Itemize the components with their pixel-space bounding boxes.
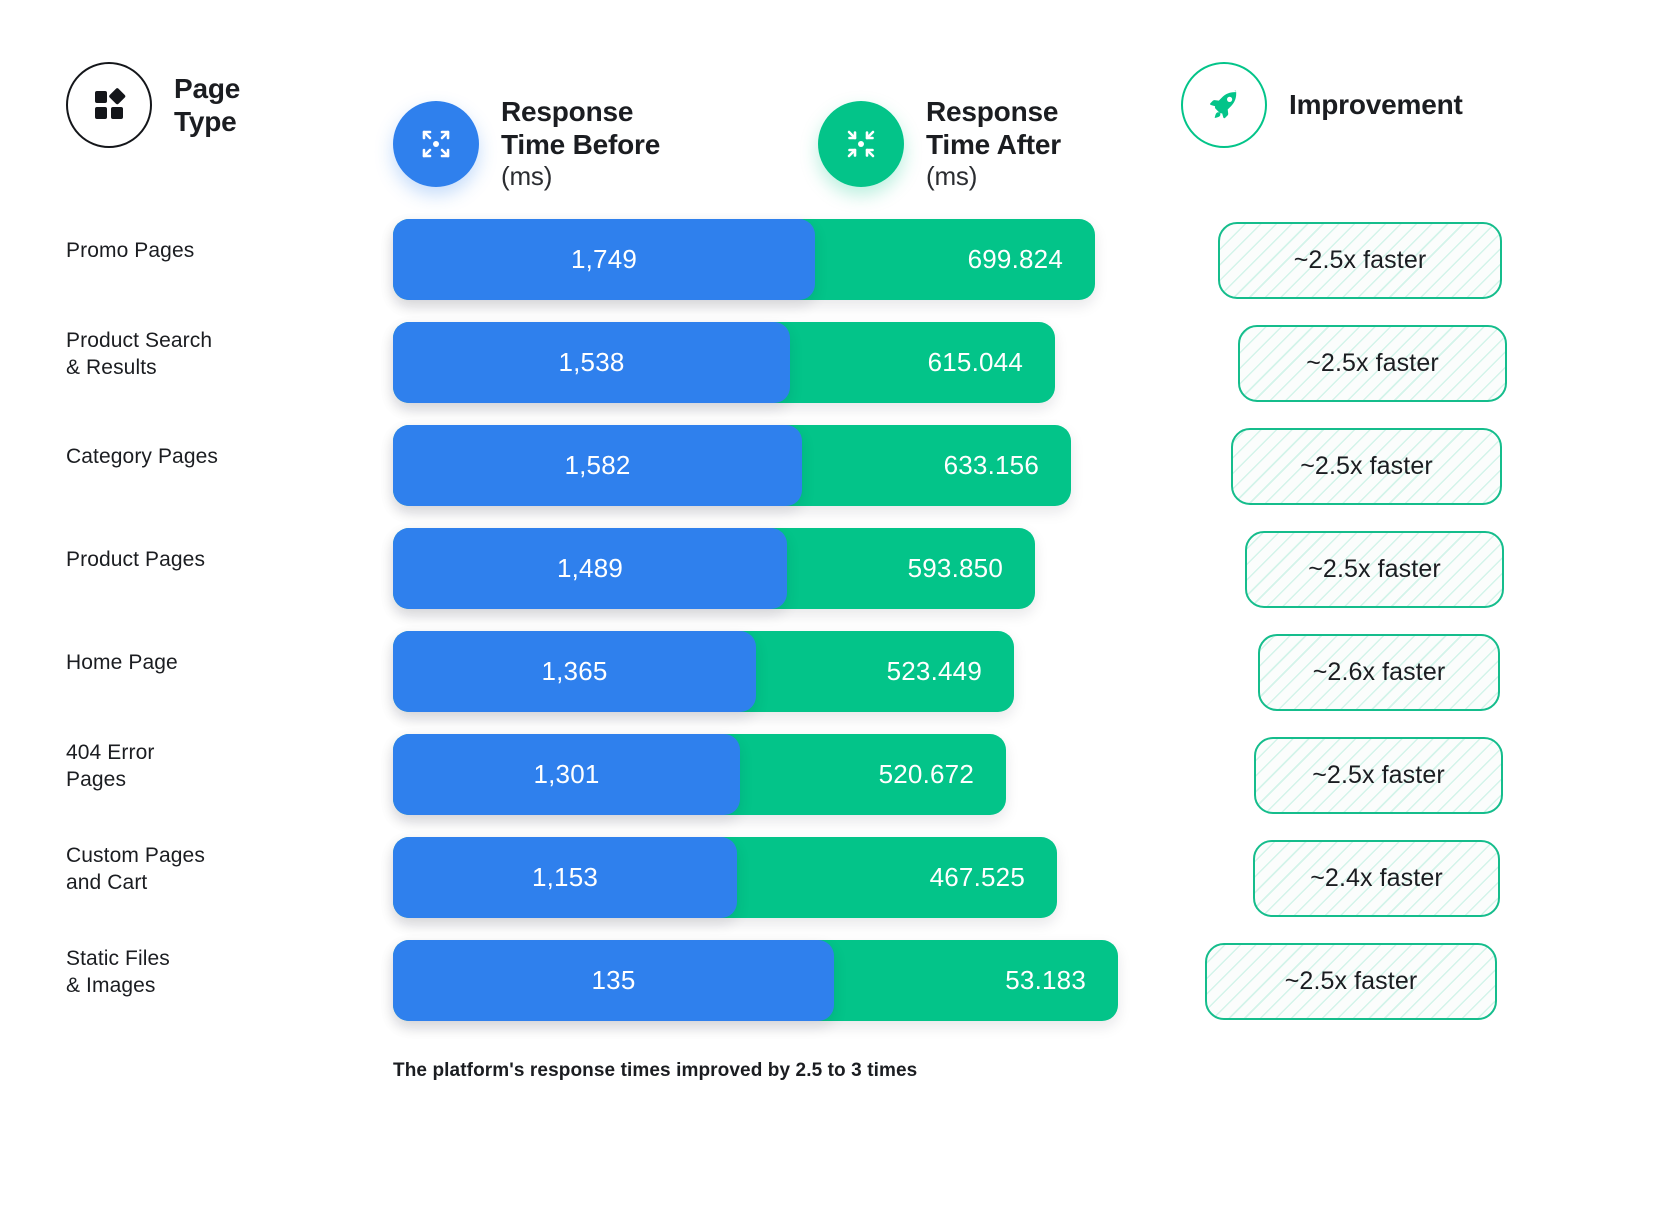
bar-after-value: 633.156: [944, 450, 1039, 481]
table-row: Product Search & Results 615.044 1,538 ~…: [0, 303, 1680, 406]
improvement-badge-text: ~2.5x faster: [1308, 555, 1441, 584]
improvement-badge: ~2.5x faster: [1205, 943, 1497, 1020]
bar-after-value: 523.449: [887, 656, 982, 687]
header-column-page-type: Page Type: [66, 62, 240, 148]
bar-after-value: 699.824: [968, 244, 1063, 275]
bar-before: 1,365: [393, 631, 756, 712]
bar-before-value: 1,301: [533, 759, 599, 790]
table-row: Product Pages 593.850 1,489 ~2.5x faster: [0, 509, 1680, 612]
bar-before-value: 1,538: [558, 347, 624, 378]
improvement-badge-text: ~2.5x faster: [1294, 246, 1427, 275]
bar-before: 1,538: [393, 322, 790, 403]
improvement-badge: ~2.5x faster: [1245, 531, 1504, 608]
comparison-rows: Promo Pages 699.824 1,749 ~2.5x faster P…: [0, 200, 1680, 1024]
improvement-badge-text: ~2.5x faster: [1300, 452, 1433, 481]
header-unit-label: (ms): [926, 161, 1061, 192]
bar-after-value: 53.183: [1005, 965, 1086, 996]
row-label: Product Pages: [66, 509, 366, 612]
bar-before-value: 1,749: [571, 244, 637, 275]
expand-arrows-icon: [393, 101, 479, 187]
improvement-badge-text: ~2.6x faster: [1313, 658, 1446, 687]
improvement-badge-text: ~2.5x faster: [1285, 967, 1418, 996]
improvement-badge: ~2.5x faster: [1218, 222, 1502, 299]
header-title-page-type: Page Type: [174, 72, 240, 138]
chart-header: Page Type Response Time Before (ms): [0, 0, 1680, 200]
bar-before: 1,749: [393, 219, 815, 300]
header-title-text: Response Time Before: [501, 96, 660, 160]
bar-before: 1,153: [393, 837, 737, 918]
bar-after-value: 593.850: [908, 553, 1003, 584]
table-row: Home Page 523.449 1,365 ~2.6x faster: [0, 612, 1680, 715]
table-row: Category Pages 633.156 1,582 ~2.5x faste…: [0, 406, 1680, 509]
bar-before: 1,489: [393, 528, 787, 609]
header-column-improvement: Improvement: [1181, 62, 1463, 148]
bar-before-value: 1,153: [532, 862, 598, 893]
improvement-badge: ~2.5x faster: [1254, 737, 1503, 814]
bar-before-value: 135: [592, 965, 636, 996]
row-label: Custom Pages and Cart: [66, 818, 366, 921]
table-row: 404 Error Pages 520.672 1,301 ~2.5x fast…: [0, 715, 1680, 818]
grid-squares-icon: [66, 62, 152, 148]
improvement-badge: ~2.5x faster: [1231, 428, 1502, 505]
header-unit-label: (ms): [501, 161, 660, 192]
bar-after-value: 520.672: [879, 759, 974, 790]
rocket-icon: [1181, 62, 1267, 148]
table-row: Custom Pages and Cart 467.525 1,153 ~2.4…: [0, 818, 1680, 921]
bar-before-value: 1,489: [557, 553, 623, 584]
header-title-text: Response Time After: [926, 96, 1061, 160]
row-label: Static Files & Images: [66, 921, 366, 1024]
table-row: Static Files & Images 53.183 135 ~2.5x f…: [0, 921, 1680, 1024]
row-label: Product Search & Results: [66, 303, 366, 406]
improvement-badge: ~2.5x faster: [1238, 325, 1507, 402]
footer-note: The platform's response times improved b…: [393, 1060, 917, 1082]
bar-before-value: 1,365: [541, 656, 607, 687]
bar-after-value: 615.044: [928, 347, 1023, 378]
improvement-badge: ~2.4x faster: [1253, 840, 1500, 917]
row-label: 404 Error Pages: [66, 715, 366, 818]
header-title-improvement: Improvement: [1289, 88, 1463, 121]
improvement-badge-text: ~2.5x faster: [1312, 761, 1445, 790]
collapse-arrows-icon: [818, 101, 904, 187]
table-row: Promo Pages 699.824 1,749 ~2.5x faster: [0, 200, 1680, 303]
improvement-badge: ~2.6x faster: [1258, 634, 1500, 711]
row-label: Promo Pages: [66, 200, 366, 303]
bar-before: 1,301: [393, 734, 740, 815]
bar-before-value: 1,582: [564, 450, 630, 481]
bar-after-value: 467.525: [930, 862, 1025, 893]
row-label: Home Page: [66, 612, 366, 715]
improvement-badge-text: ~2.5x faster: [1306, 349, 1439, 378]
row-label: Category Pages: [66, 406, 366, 509]
bar-before: 135: [393, 940, 834, 1021]
bar-before: 1,582: [393, 425, 802, 506]
improvement-badge-text: ~2.4x faster: [1310, 864, 1443, 893]
